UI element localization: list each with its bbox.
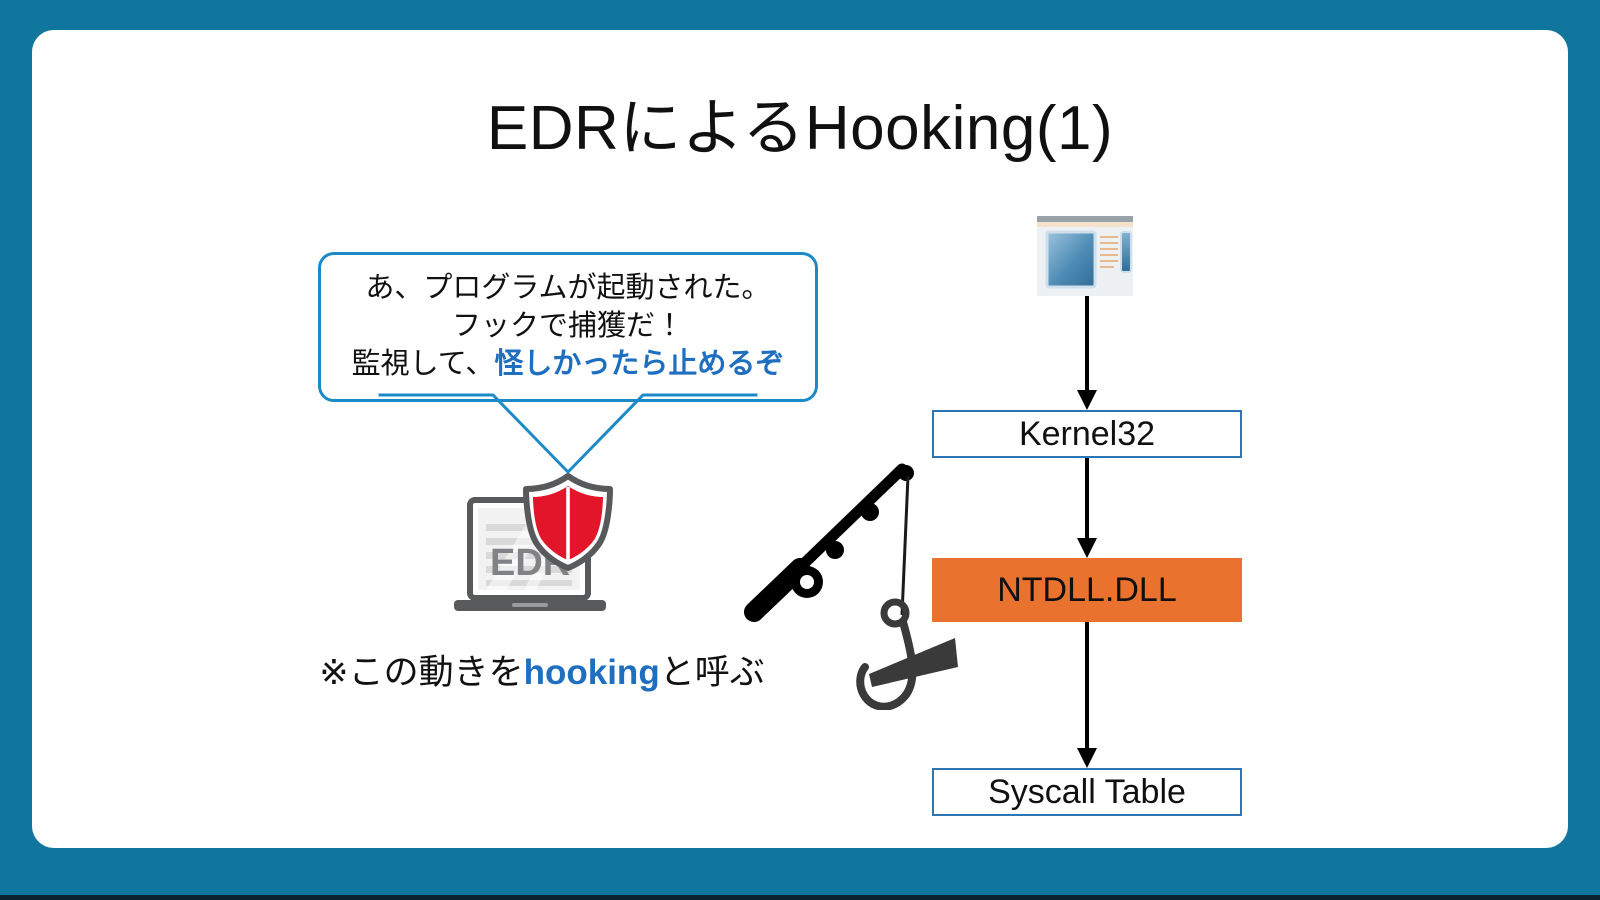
arrow-app-to-kernel32 — [1062, 294, 1112, 412]
flow-box-syscall-table[interactable]: Syscall Table — [932, 768, 1242, 816]
page-title: EDRによるHooking(1) — [32, 96, 1568, 161]
edr-laptop-shield-illustration: EDR — [444, 472, 634, 642]
arrow-ntdll-to-syscall-table — [1062, 620, 1112, 770]
slide-canvas: EDRによるHooking(1) あ、プログラムが起動された。 フックで捕獲だ！… — [0, 0, 1600, 900]
flow-box-kernel32[interactable]: Kernel32 — [932, 410, 1242, 458]
slide-bottom-rule — [0, 895, 1600, 900]
speech-bubble-text: あ、プログラムが起動された。 フックで捕獲だ！ 監視して、怪しかったら止めるぞ — [352, 270, 785, 383]
slide-content-card: EDRによるHooking(1) あ、プログラムが起動された。 フックで捕獲だ！… — [32, 30, 1568, 848]
arrow-kernel32-to-ntdll — [1062, 456, 1112, 560]
speech-bubble: あ、プログラムが起動された。 フックで捕獲だ！ 監視して、怪しかったら止めるぞ — [318, 252, 818, 402]
speech-line-1: あ、プログラムが起動された。 — [365, 272, 770, 304]
speech-line-3-accent: 怪しかったら止めるぞ — [494, 348, 784, 380]
caption-accent: hooking — [524, 653, 660, 692]
caption-prefix: ※この動きを — [319, 653, 523, 692]
speech-line-2: フックで捕獲だ！ — [452, 310, 684, 342]
speech-bubble-tail — [318, 392, 818, 476]
fishing-rod-icon — [754, 465, 914, 612]
speech-line-3-plain: 監視して、 — [352, 348, 495, 380]
flow-box-ntdll-dll[interactable]: NTDLL.DLL — [932, 558, 1242, 622]
application-window-icon — [1037, 216, 1133, 296]
